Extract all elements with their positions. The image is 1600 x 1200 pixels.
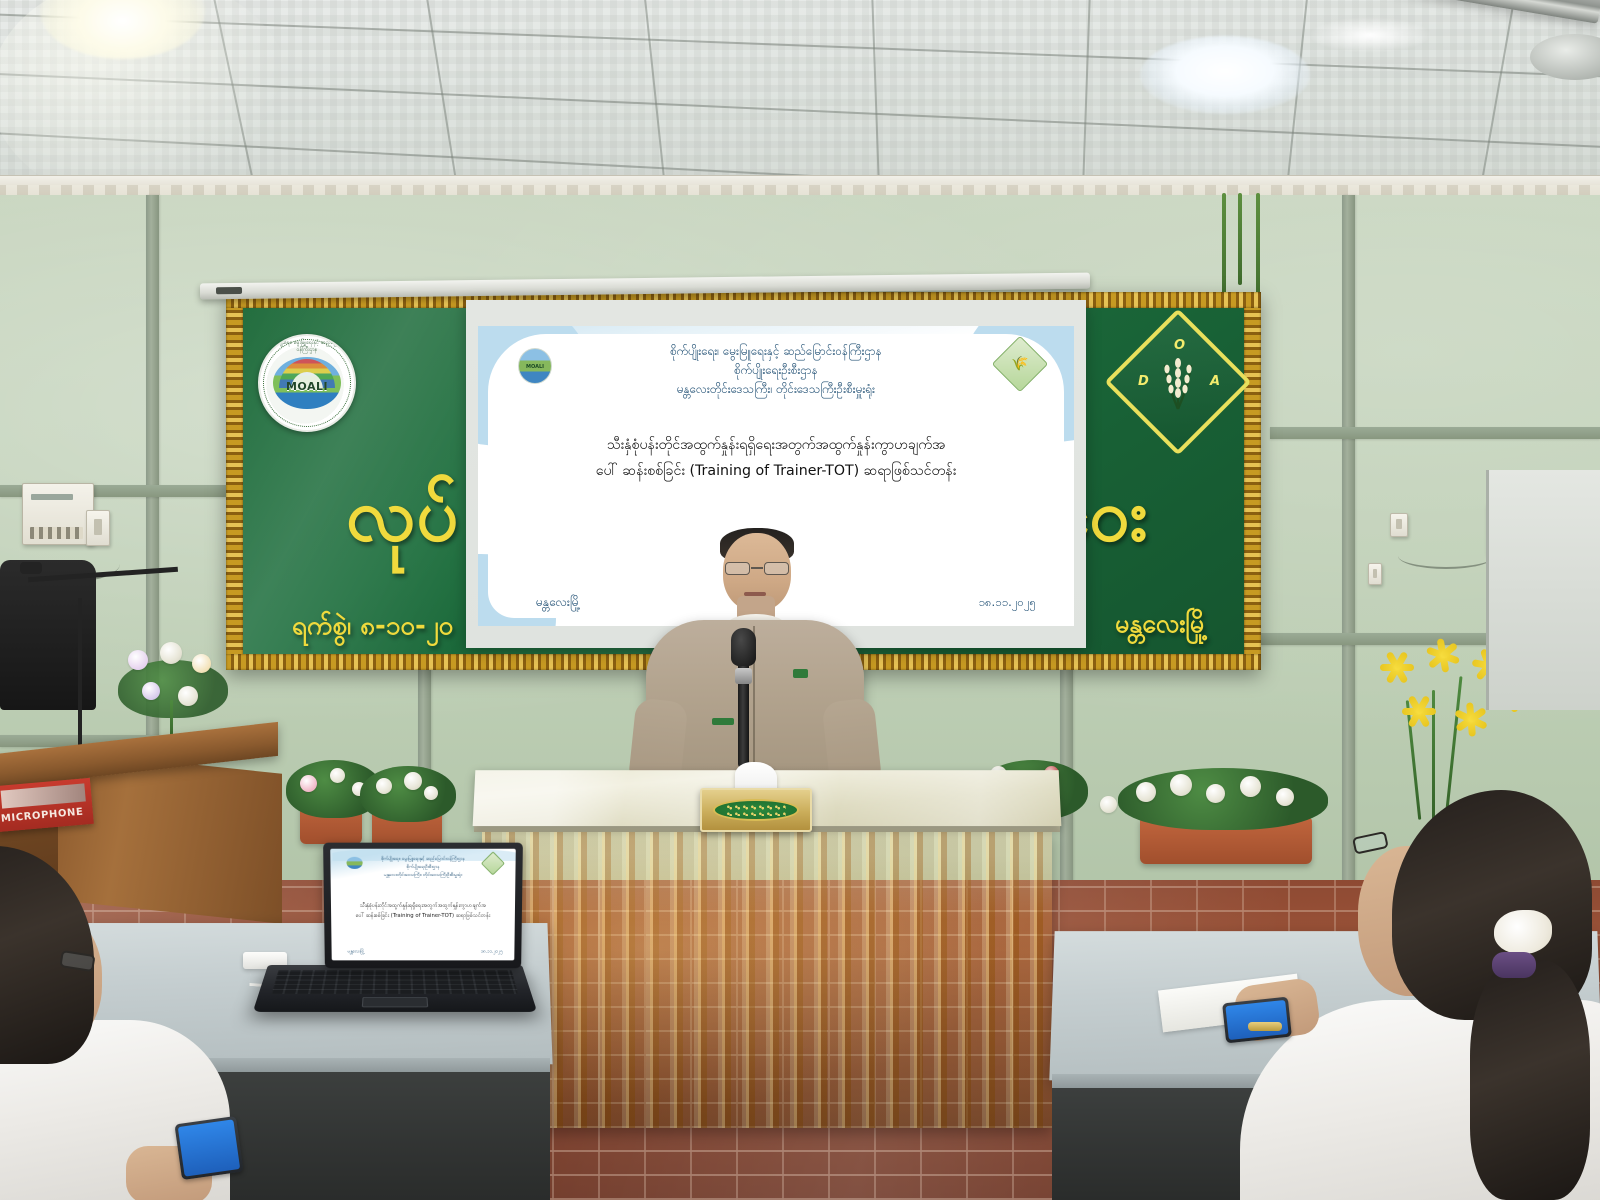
pink-flower bbox=[300, 775, 317, 792]
white-rose-b bbox=[1170, 774, 1192, 796]
wall-switch-right-2 bbox=[1368, 563, 1382, 585]
laptop-keyboard[interactable] bbox=[271, 970, 518, 994]
banner-frame-right bbox=[1244, 292, 1261, 670]
lily-1 bbox=[1378, 648, 1416, 686]
moali-logo: စိုက်ပျိုးရေး၊ မွေးမြူရေးနှင့် ဆည်မြောင်… bbox=[258, 334, 356, 432]
laptop-slide-title-1: သီးနှံစုံပန်းတိုင်အထွက်နှုန်းရရှိရေးအတွက… bbox=[341, 901, 505, 911]
white-flower-a bbox=[330, 768, 345, 783]
wall-switch-left bbox=[86, 510, 110, 546]
ornate-gold-tissue-box bbox=[700, 788, 812, 832]
microphone-box-image bbox=[1, 783, 86, 808]
moali-arc-top: စိုက်ပျိုးရေး၊ မွေးမြူရေးနှင့် ဆည်မြောင်… bbox=[260, 340, 354, 354]
hanging-vine-2 bbox=[1238, 193, 1242, 285]
banner-headline-left: လုပ် bbox=[346, 468, 460, 577]
slide-footer-date: ၁၈.၁၁.၂၀၂၅ bbox=[978, 595, 1036, 612]
attendee-left-phone[interactable] bbox=[174, 1116, 243, 1180]
microphone-box-label: MICROPHONE bbox=[1, 807, 84, 825]
white-rose-c bbox=[1206, 784, 1225, 803]
fan-light-glow bbox=[1140, 36, 1310, 114]
laptop-slide-moali-logo bbox=[346, 857, 362, 869]
banner-city: မန္တလေးမြို့ bbox=[1115, 608, 1208, 645]
lily-4 bbox=[1400, 692, 1438, 730]
laptop-slide-header-3: မန္တလေးတိုင်းဒေသကြီး၊ တိုင်းဒေသကြီးဦးစီး… bbox=[367, 872, 480, 880]
slide-header-line-1: စိုက်ပျိုးရေး၊ မွေးမြူရေးနှင့် ဆည်မြောင်… bbox=[538, 342, 1014, 361]
slide-header: စိုက်ပျိုးရေး၊ မွေးမြူရေးနှင့် ဆည်မြောင်… bbox=[538, 342, 1014, 399]
right-wall-panel bbox=[1486, 470, 1600, 710]
slide-title-line-2: ပေါ် ဆန်းစစ်ခြင်း (Training of Trainer-T… bbox=[512, 458, 1040, 484]
wall-pilaster-right bbox=[1342, 195, 1355, 900]
moali-logo-text: MOALI bbox=[260, 380, 354, 393]
banner-date: ရက်စွဲ၊ ၈-၁၀-၂၀ bbox=[292, 608, 453, 647]
lily-2 bbox=[1424, 636, 1462, 674]
laptop-slide-header-2: စိုက်ပျိုးရေးဦးစီးဌာန bbox=[367, 864, 480, 872]
doa-letter-a: A bbox=[1210, 374, 1220, 389]
doa-diamond-logo: O D A bbox=[1126, 330, 1230, 434]
conference-room-photo: စိုက်ပျိုးရေး၊ မွေးမြူရေးနှင့် ဆည်မြောင်… bbox=[0, 0, 1600, 1200]
electric-meter-left bbox=[22, 483, 94, 545]
microphone-band bbox=[735, 668, 752, 684]
white-flower-d bbox=[404, 772, 422, 790]
laptop-slide-header-1: စိုက်ပျိုးရေး၊ မွေးမြူရေးနှင့် ဆည်မြောင်… bbox=[367, 856, 480, 864]
lily-5 bbox=[1452, 700, 1490, 738]
ceiling-light-right bbox=[1310, 18, 1430, 52]
white-rose-a bbox=[1136, 782, 1156, 802]
laptop-slide-footer-right: ၁၈.၁၁.၂၀၂၅ bbox=[481, 950, 503, 956]
laptop-touchpad[interactable] bbox=[362, 997, 428, 1007]
table-skirt-shading bbox=[482, 830, 1052, 1128]
plaque-green-oval bbox=[713, 799, 799, 821]
wall-switch-right bbox=[1390, 513, 1408, 537]
table-skirt bbox=[482, 830, 1052, 1128]
presenter-pocket-badge bbox=[712, 718, 734, 725]
slide-header-line-2: စိုက်ပျိုးရေးဦးစီးဌာန bbox=[538, 361, 1014, 380]
laptop-screen: စိုက်ပျိုးရေး၊ မွေးမြူရေးနှင့် ဆည်မြောင်… bbox=[330, 849, 516, 961]
banner-frame-left bbox=[226, 292, 243, 670]
microphone-head bbox=[731, 628, 756, 666]
rice-stalk-icon bbox=[1151, 353, 1205, 411]
ceiling bbox=[0, 0, 1600, 205]
white-flower-e bbox=[424, 786, 438, 800]
slide-footer-city: မန္တလေးမြို့ bbox=[536, 594, 581, 612]
laptop-lid: စိုက်ပျိုးရေး၊ မွေးမြူရေးနှင့် ဆည်မြောင်… bbox=[323, 843, 523, 969]
laptop-slide-footer-left: မန္တလေးမြို့ bbox=[347, 949, 364, 956]
slide-title-line-1: သီးနှံစုံပန်းတိုင်အထွက်နှုန်းရရှိရေးအတွက… bbox=[512, 432, 1040, 458]
white-rose-f bbox=[1100, 796, 1117, 813]
laptop-slide-title-2: ပေါ် ဆန်းစစ်ခြင်း (Training of Trainer-T… bbox=[341, 911, 505, 921]
doa-letter-d: D bbox=[1138, 374, 1149, 389]
slide-header-line-3: မန္တလေးတိုင်းဒေသကြီး၊ တိုင်းဒေသကြီးဦးစီး… bbox=[538, 380, 1014, 399]
white-rose-d bbox=[1240, 776, 1261, 797]
presenter-glasses bbox=[724, 562, 790, 575]
white-rose-e bbox=[1276, 788, 1294, 806]
attendee-right-ponytail bbox=[1470, 960, 1590, 1200]
doa-letter-o: O bbox=[1174, 338, 1185, 353]
attendee-right-phone[interactable] bbox=[1222, 997, 1292, 1044]
wall-rail-right bbox=[1270, 427, 1600, 439]
laptop-base bbox=[253, 965, 537, 1012]
boom-microphone bbox=[20, 562, 42, 574]
mic-stand-pole bbox=[78, 598, 82, 748]
presenter-badge bbox=[793, 669, 808, 678]
attendee-right-bracelet bbox=[1248, 1022, 1282, 1031]
hair-scrunchie bbox=[1492, 952, 1536, 978]
microphone-box: MICROPHONE bbox=[0, 778, 94, 832]
wall-wiring-right bbox=[1398, 543, 1494, 569]
hair-flower bbox=[1494, 910, 1552, 954]
white-flower-c bbox=[376, 778, 392, 794]
slide-title: သီးနှံစုံပန်းတိုင်အထွက်နှုန်းရရှိရေးအတွက… bbox=[512, 432, 1040, 485]
